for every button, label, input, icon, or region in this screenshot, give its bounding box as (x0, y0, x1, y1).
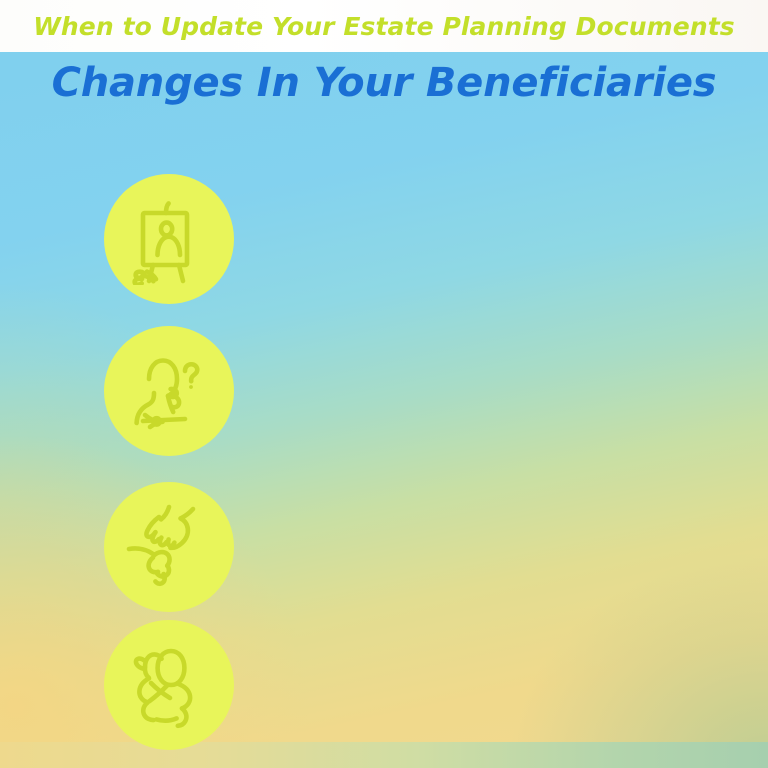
header-band: When to Update Your Estate Planning Docu… (0, 0, 768, 52)
header-title: When to Update Your Estate Planning Docu… (33, 12, 735, 41)
two-hands-icon (104, 482, 234, 612)
two-people-icon (104, 620, 234, 750)
portrait-easel-icon (104, 174, 234, 304)
page-title: Changes In Your Beneficiaries (0, 60, 768, 106)
bottom-accent-strip (0, 742, 768, 768)
thinking-person-icon (104, 326, 234, 456)
infographic-canvas: When to Update Your Estate Planning Docu… (0, 0, 768, 768)
